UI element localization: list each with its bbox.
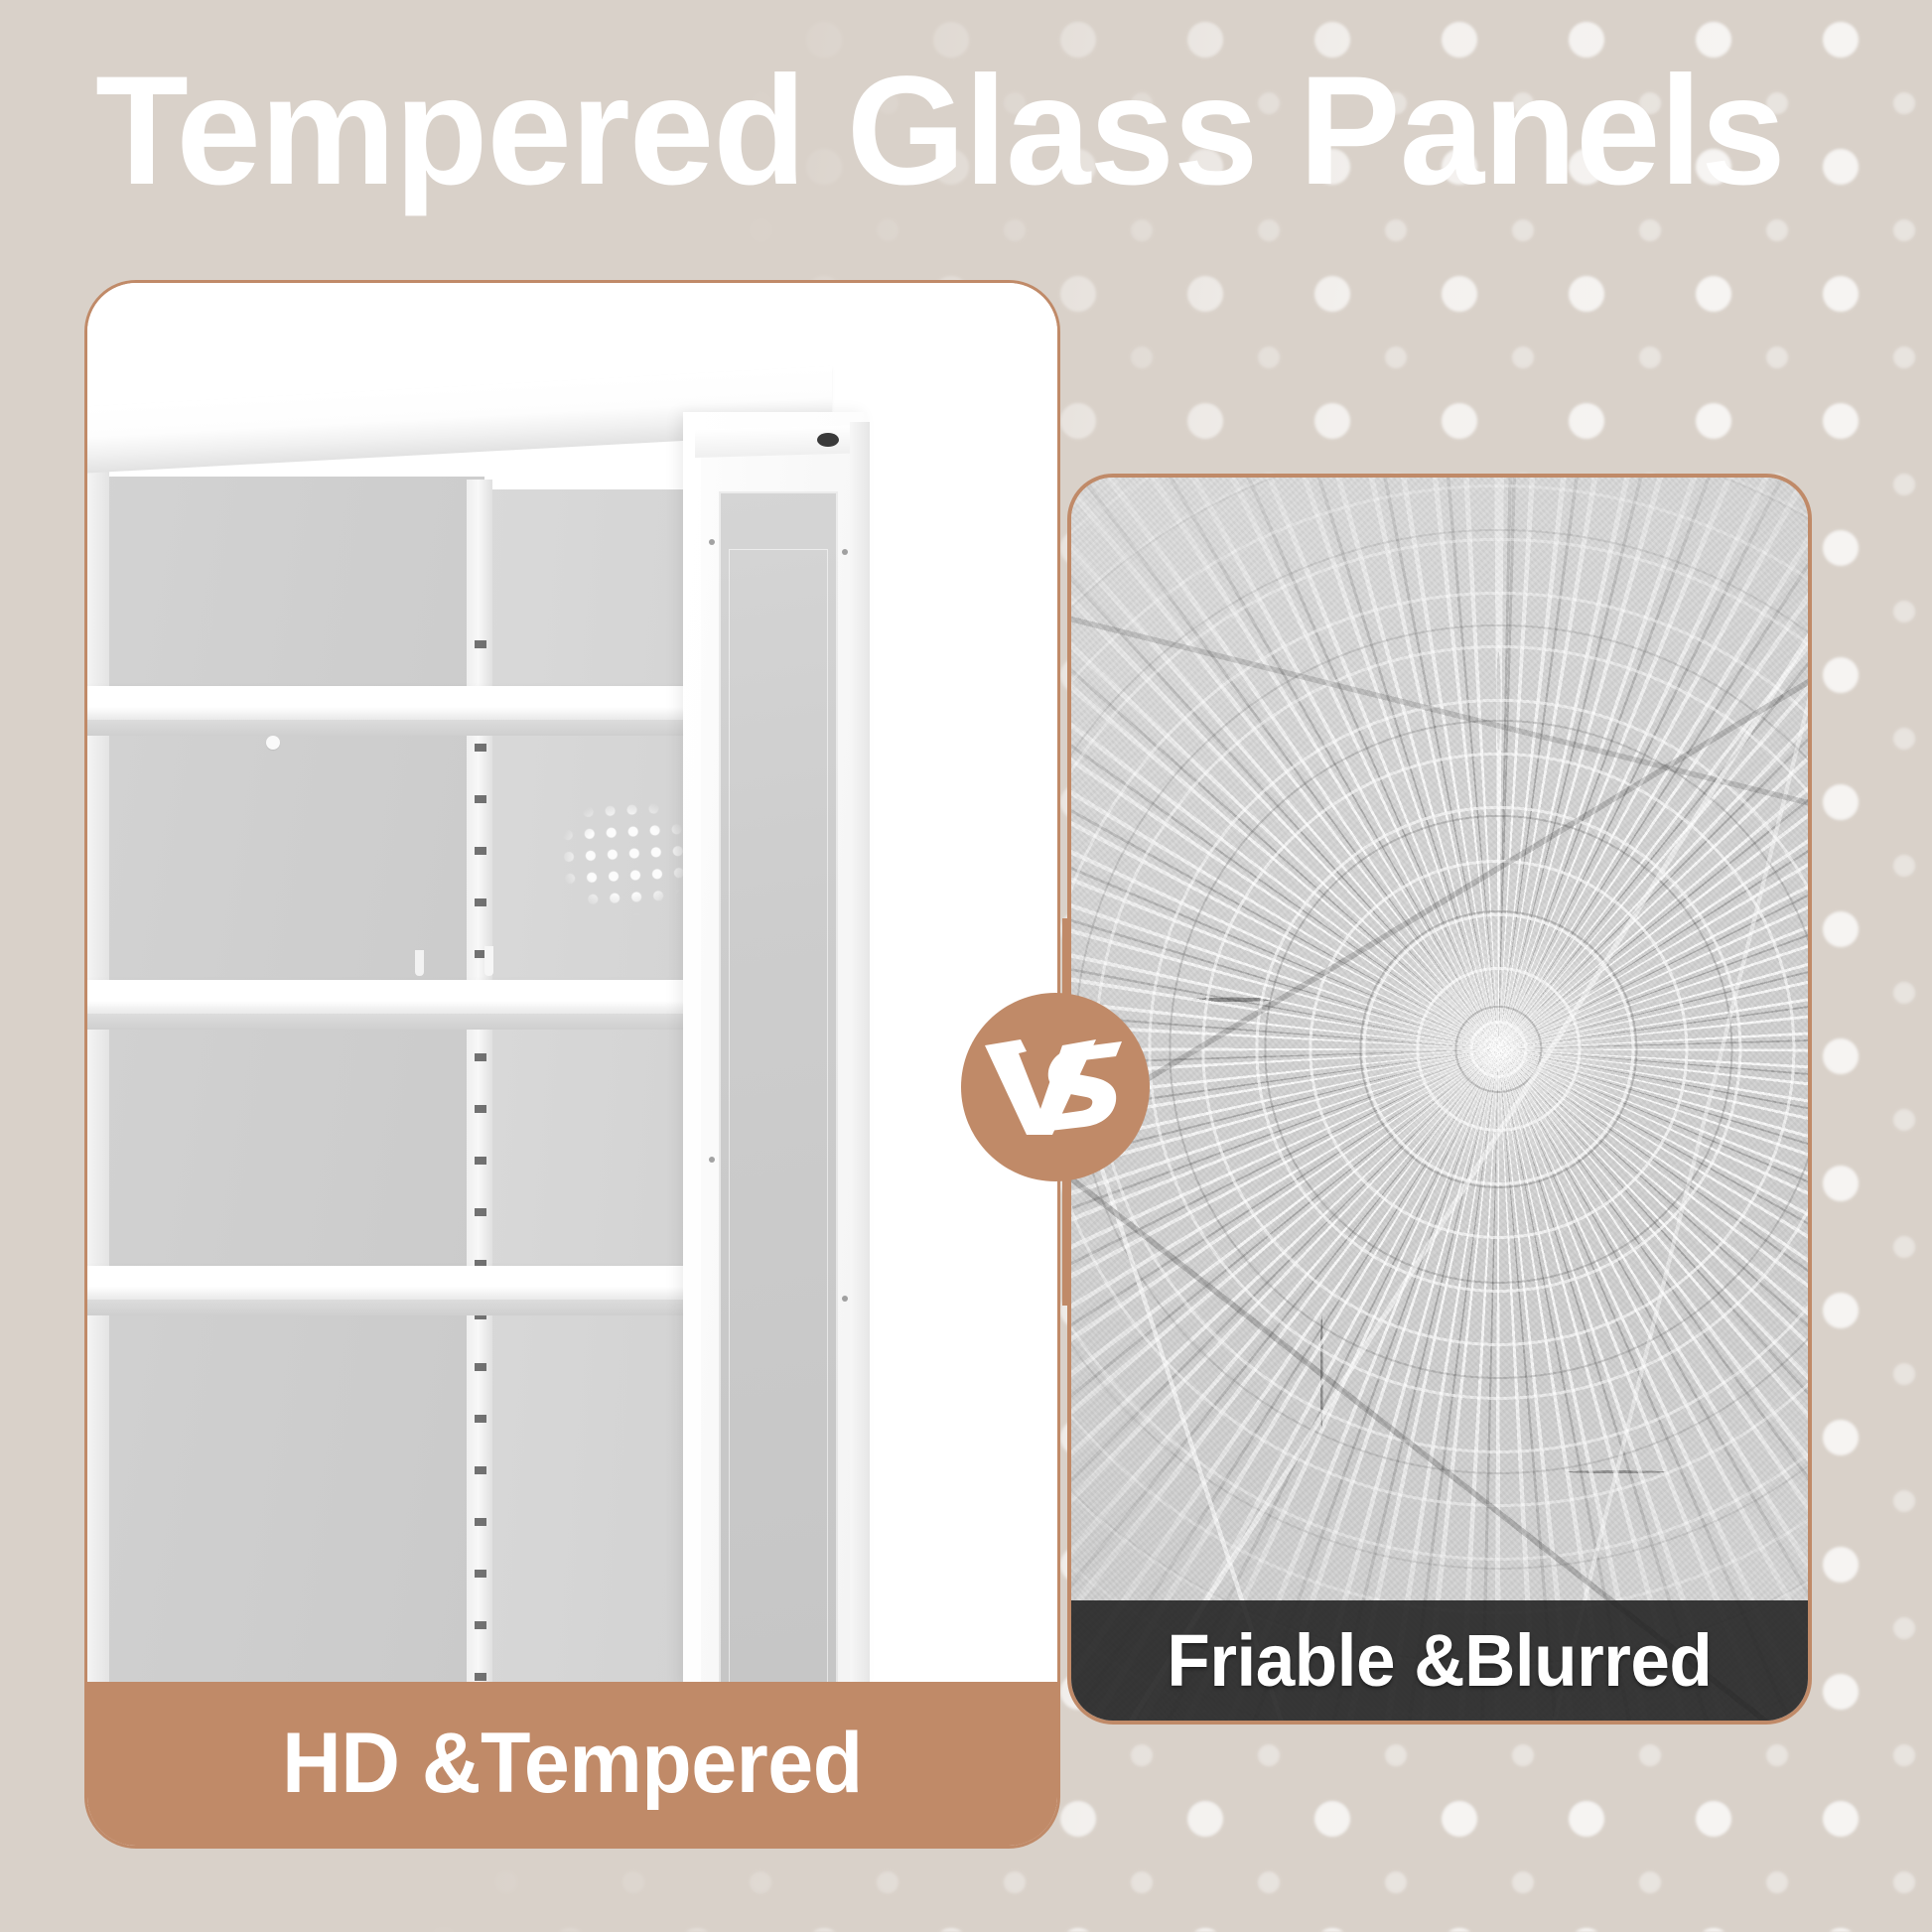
left-caption-bar: HD &Tempered [87,1682,1057,1846]
cabinet-shelf-underside [87,1300,730,1315]
cabinet-shelf [87,980,730,1014]
cabinet-shelf-underside [87,720,730,736]
left-caption-text: HD &Tempered [282,1715,863,1813]
cabinet-photo [87,283,1057,1688]
coat-hook-left [415,950,424,976]
right-caption-bar: Friable &Blurred [1071,1600,1808,1721]
door-lock-icon [817,433,839,447]
cabinet-shelf [87,686,730,720]
screw-icon [842,549,848,555]
cabinet-back-panel [87,477,484,1688]
shelf-standard-slots [475,611,486,1688]
vs-badge [961,993,1150,1181]
screw-icon [709,539,715,545]
cabinet-shelf-underside [87,1014,730,1030]
comparison-card-left: HD &Tempered [84,280,1060,1849]
cabinet-left-wall [87,472,109,1688]
cabinet-shelf [87,1266,730,1300]
page-title: Tempered Glass Panels [95,54,1875,208]
right-caption-text: Friable &Blurred [1168,1618,1713,1703]
infographic-canvas: Tempered Glass Panels [0,0,1932,1932]
screw-icon [842,1296,848,1302]
glass-panel-inner-bevel [729,549,828,1688]
cabinet-door-right-edge [850,422,870,1688]
vs-lettering-icon [981,1035,1130,1139]
screw-icon [709,1157,715,1163]
mounting-hole [266,736,280,750]
coat-hook-right [484,946,493,976]
comparison-card-right: Friable &Blurred [1067,474,1812,1725]
glass-surface-grain [1071,478,1808,1721]
